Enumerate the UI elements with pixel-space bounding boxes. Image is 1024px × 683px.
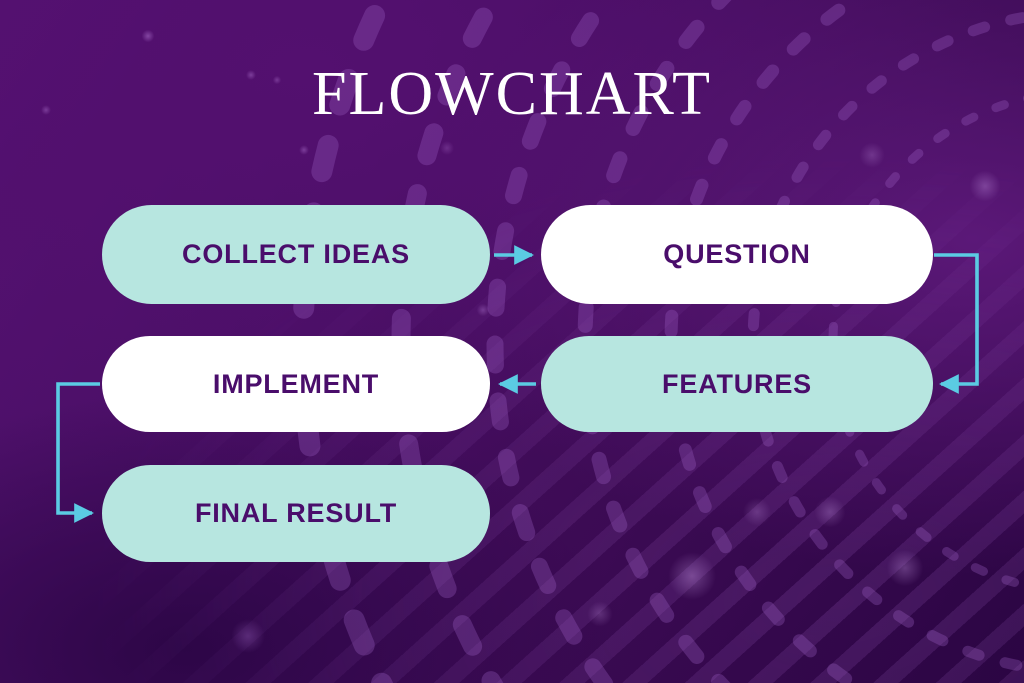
flow-node-features[interactable]: FEATURES [541, 336, 933, 432]
page-title: FLOWCHART [0, 63, 1024, 125]
flow-node-final-result[interactable]: FINAL RESULT [102, 465, 490, 562]
flow-node-collect-ideas[interactable]: COLLECT IDEAS [102, 205, 490, 304]
flow-node-label: IMPLEMENT [213, 369, 379, 400]
flow-node-question[interactable]: QUESTION [541, 205, 933, 304]
connector-question-to-features [934, 255, 977, 384]
flow-node-label: COLLECT IDEAS [182, 239, 410, 270]
flow-node-label: QUESTION [663, 239, 810, 270]
flow-node-implement[interactable]: IMPLEMENT [102, 336, 490, 432]
flow-node-label: FEATURES [662, 369, 812, 400]
flow-node-label: FINAL RESULT [195, 498, 397, 529]
connector-implement-to-final-result [58, 384, 100, 513]
flowchart-canvas: FLOWCHART COLLECT IDEAS QUESTION IMPLEME… [0, 0, 1024, 683]
